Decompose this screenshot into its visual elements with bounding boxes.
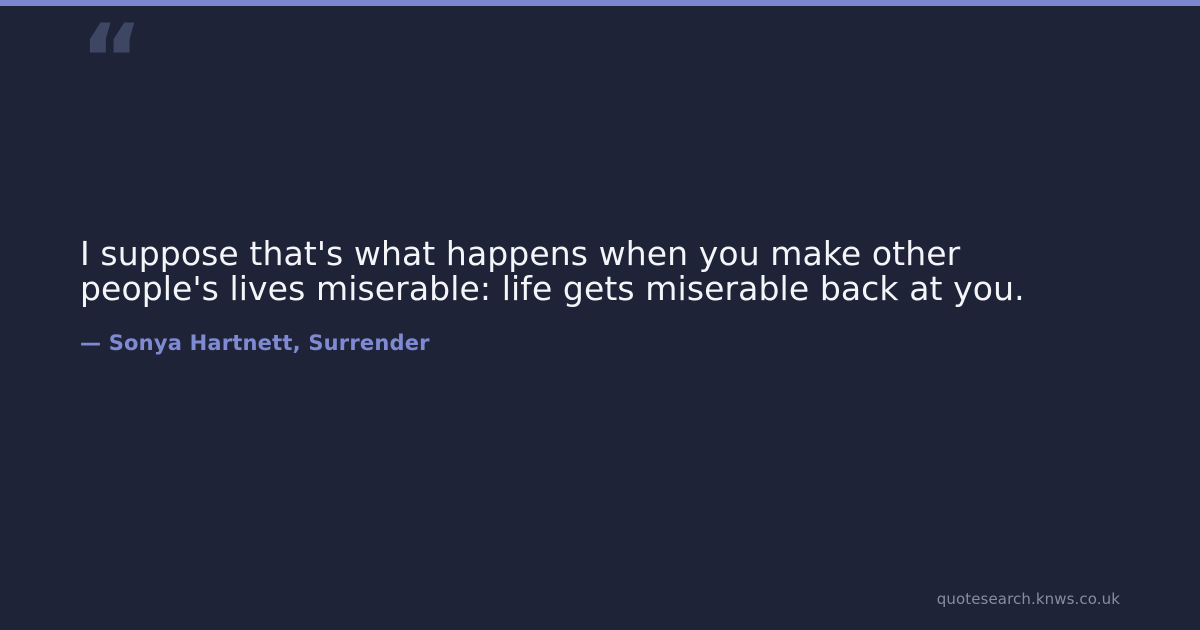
attribution-source: Surrender — [308, 331, 429, 355]
top-accent-bar — [0, 0, 1200, 6]
quote-content: I suppose that's what happens when you m… — [80, 236, 1090, 356]
quote-text: I suppose that's what happens when you m… — [80, 236, 1090, 306]
attribution-separator: , — [293, 331, 309, 355]
quote-attribution: — Sonya Hartnett, Surrender — [80, 330, 1090, 356]
quote-card: “ I suppose that's what happens when you… — [0, 0, 1200, 630]
attribution-dash: — — [80, 331, 101, 355]
decorative-quote-icon: “ — [80, 12, 141, 108]
site-credit-watermark: quotesearch.knws.co.uk — [937, 590, 1120, 608]
attribution-author: Sonya Hartnett — [109, 331, 293, 355]
